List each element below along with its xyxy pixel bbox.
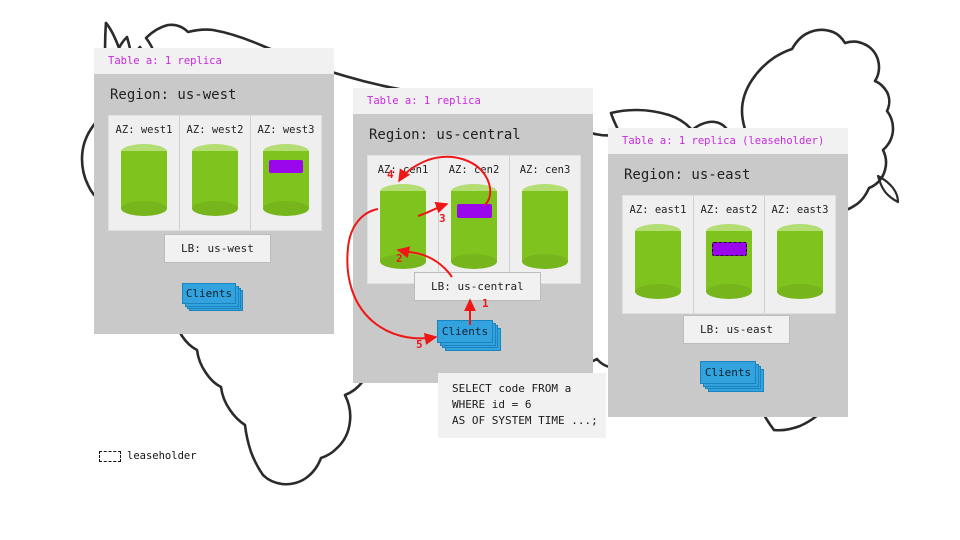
node-cylinder-cen2[interactable] [451, 184, 497, 269]
flow-step-number-5: 5 [416, 338, 423, 351]
load-balancer-us-central[interactable]: LB: us-central [414, 272, 541, 301]
node-cylinder-east1[interactable] [635, 224, 681, 299]
region-header-us-central: Table a: 1 replica [353, 88, 593, 114]
az-label-cen2: AZ: cen2 [439, 164, 509, 176]
flow-step-number-2: 2 [396, 252, 403, 265]
legend-leaseholder: leaseholder [99, 450, 197, 462]
az-cell-east1[interactable]: AZ: east1 [623, 196, 694, 313]
clients-stack-us-east[interactable]: Clients [700, 361, 766, 391]
region-header-us-east: Table a: 1 replica (leaseholder) [608, 128, 848, 154]
az-cell-west1[interactable]: AZ: west1 [109, 116, 180, 230]
az-cell-cen3[interactable]: AZ: cen3 [510, 156, 580, 283]
flow-step-number-1: 1 [482, 297, 489, 310]
az-label-cen3: AZ: cen3 [510, 164, 580, 176]
cylinder-bottom [263, 201, 309, 216]
node-cylinder-west3[interactable] [263, 144, 309, 216]
az-label-east3: AZ: east3 [765, 204, 835, 216]
diagram-canvas: Table a: 1 replica Region: us-west AZ: w… [0, 0, 960, 540]
flow-step-number-3: 3 [439, 212, 446, 225]
cylinder-body [706, 231, 752, 292]
cylinder-bottom [121, 201, 167, 216]
load-balancer-us-east[interactable]: LB: us-east [683, 315, 790, 344]
clients-label-us-west[interactable]: Clients [182, 283, 236, 304]
node-cylinder-cen3[interactable] [522, 184, 568, 269]
cylinder-bottom [380, 254, 426, 269]
cylinder-body [522, 191, 568, 262]
node-cylinder-cen1[interactable] [380, 184, 426, 269]
node-cylinder-west2[interactable] [192, 144, 238, 216]
az-cell-east3[interactable]: AZ: east3 [765, 196, 835, 313]
region-panel-us-west: Table a: 1 replica Region: us-west AZ: w… [94, 48, 334, 334]
az-cell-cen1[interactable]: AZ: cen1 [368, 156, 439, 283]
az-cell-east2[interactable]: AZ: east2 [694, 196, 765, 313]
az-cell-cen2[interactable]: AZ: cen2 [439, 156, 510, 283]
cylinder-body [635, 231, 681, 292]
node-cylinder-east2[interactable] [706, 224, 752, 299]
az-label-west2: AZ: west2 [180, 124, 250, 136]
az-cell-west3[interactable]: AZ: west3 [251, 116, 321, 230]
clients-stack-us-central[interactable]: Clients [437, 320, 503, 350]
region-panel-us-central: Table a: 1 replica Region: us-central AZ… [353, 88, 593, 383]
clients-stack-us-west[interactable]: Clients [182, 283, 246, 311]
node-cylinder-west1[interactable] [121, 144, 167, 216]
clients-label-us-east[interactable]: Clients [700, 361, 756, 384]
cylinder-bottom [706, 284, 752, 299]
az-row-us-east: AZ: east1 AZ: east2 [622, 195, 836, 314]
region-title-us-west: Region: us-west [110, 87, 322, 103]
az-label-cen1: AZ: cen1 [368, 164, 438, 176]
sql-query-note: SELECT code FROM a WHERE id = 6 AS OF SY… [438, 373, 606, 438]
load-balancer-us-west[interactable]: LB: us-west [164, 234, 271, 263]
cylinder-body [451, 191, 497, 262]
cylinder-bottom [451, 254, 497, 269]
region-title-us-central: Region: us-central [369, 127, 581, 143]
az-label-west1: AZ: west1 [109, 124, 179, 136]
cylinder-body [380, 191, 426, 262]
az-cell-west2[interactable]: AZ: west2 [180, 116, 251, 230]
range-replica-cen2[interactable] [457, 204, 492, 218]
az-label-east2: AZ: east2 [694, 204, 764, 216]
cylinder-body [777, 231, 823, 292]
cylinder-bottom [777, 284, 823, 299]
range-replica-leaseholder-east2[interactable] [712, 242, 747, 256]
cylinder-bottom [192, 201, 238, 216]
legend-label: leaseholder [127, 450, 197, 462]
flow-step-number-4: 4 [387, 168, 394, 181]
range-replica-west3[interactable] [269, 160, 303, 173]
region-title-us-east: Region: us-east [624, 167, 836, 183]
cylinder-bottom [635, 284, 681, 299]
region-header-us-west: Table a: 1 replica [94, 48, 334, 74]
cylinder-bottom [522, 254, 568, 269]
az-label-east1: AZ: east1 [623, 204, 693, 216]
az-row-us-west: AZ: west1 AZ: west2 AZ [108, 115, 322, 231]
clients-label-us-central[interactable]: Clients [437, 320, 493, 343]
dashed-rectangle-icon [99, 451, 121, 462]
region-panel-us-east: Table a: 1 replica (leaseholder) Region:… [608, 128, 848, 417]
node-cylinder-east3[interactable] [777, 224, 823, 299]
az-label-west3: AZ: west3 [251, 124, 321, 136]
